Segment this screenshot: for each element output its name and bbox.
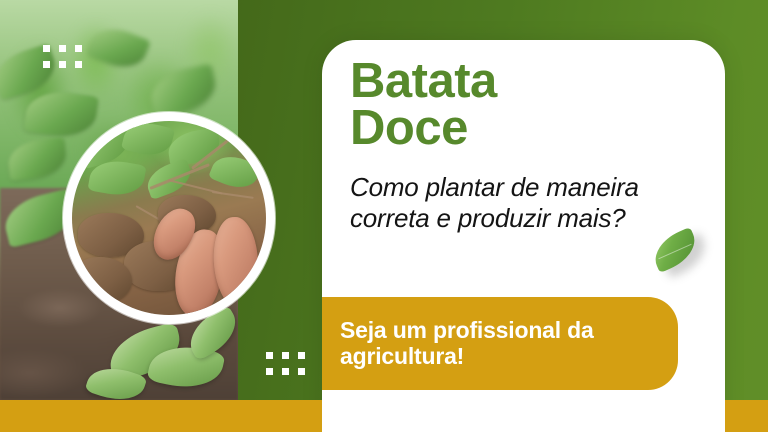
title-line-1: Batata <box>350 58 690 105</box>
dot <box>59 45 66 52</box>
subtitle-line-1: Como plantar de <box>350 172 539 202</box>
dot <box>266 352 273 359</box>
circle-photo-inner <box>72 121 266 315</box>
leaf-icon <box>648 231 702 271</box>
dot <box>43 61 50 68</box>
dot <box>43 45 50 52</box>
batata-doce-banner: Batata Doce Como plantar de maneira corr… <box>0 0 768 432</box>
dot-grid-pattern <box>266 352 305 375</box>
foliage-leaf <box>166 128 222 167</box>
dot <box>298 352 305 359</box>
cta-text: Seja um profissional da agricultura! <box>322 318 608 369</box>
cta-banner[interactable]: Seja um profissional da agricultura! <box>322 297 678 390</box>
root-strand <box>212 191 254 199</box>
dot <box>75 45 82 52</box>
page-title: Batata Doce <box>350 58 690 152</box>
bottom-accent-bar-left <box>0 400 322 432</box>
dot <box>59 61 66 68</box>
foliage-leaf <box>208 149 262 194</box>
foliage-leaf <box>121 121 175 160</box>
cta-line-2: agricultura! <box>340 344 594 369</box>
bottom-accent-bar-right <box>725 400 768 432</box>
cta-line-1: Seja um profissional da <box>340 318 594 343</box>
sweet-potato-harvest-photo <box>63 112 275 324</box>
dot <box>75 61 82 68</box>
subtitle-line-3: produzir mais? <box>458 203 626 233</box>
content-card: Batata Doce Como plantar de maneira corr… <box>322 40 725 432</box>
subtitle: Como plantar de maneira correta e produz… <box>350 172 662 233</box>
dot <box>282 368 289 375</box>
soil-clod <box>72 257 132 303</box>
dot <box>282 352 289 359</box>
dot <box>298 368 305 375</box>
dot <box>266 368 273 375</box>
title-line-2: Doce <box>350 105 690 152</box>
dot-grid-pattern <box>43 45 82 68</box>
